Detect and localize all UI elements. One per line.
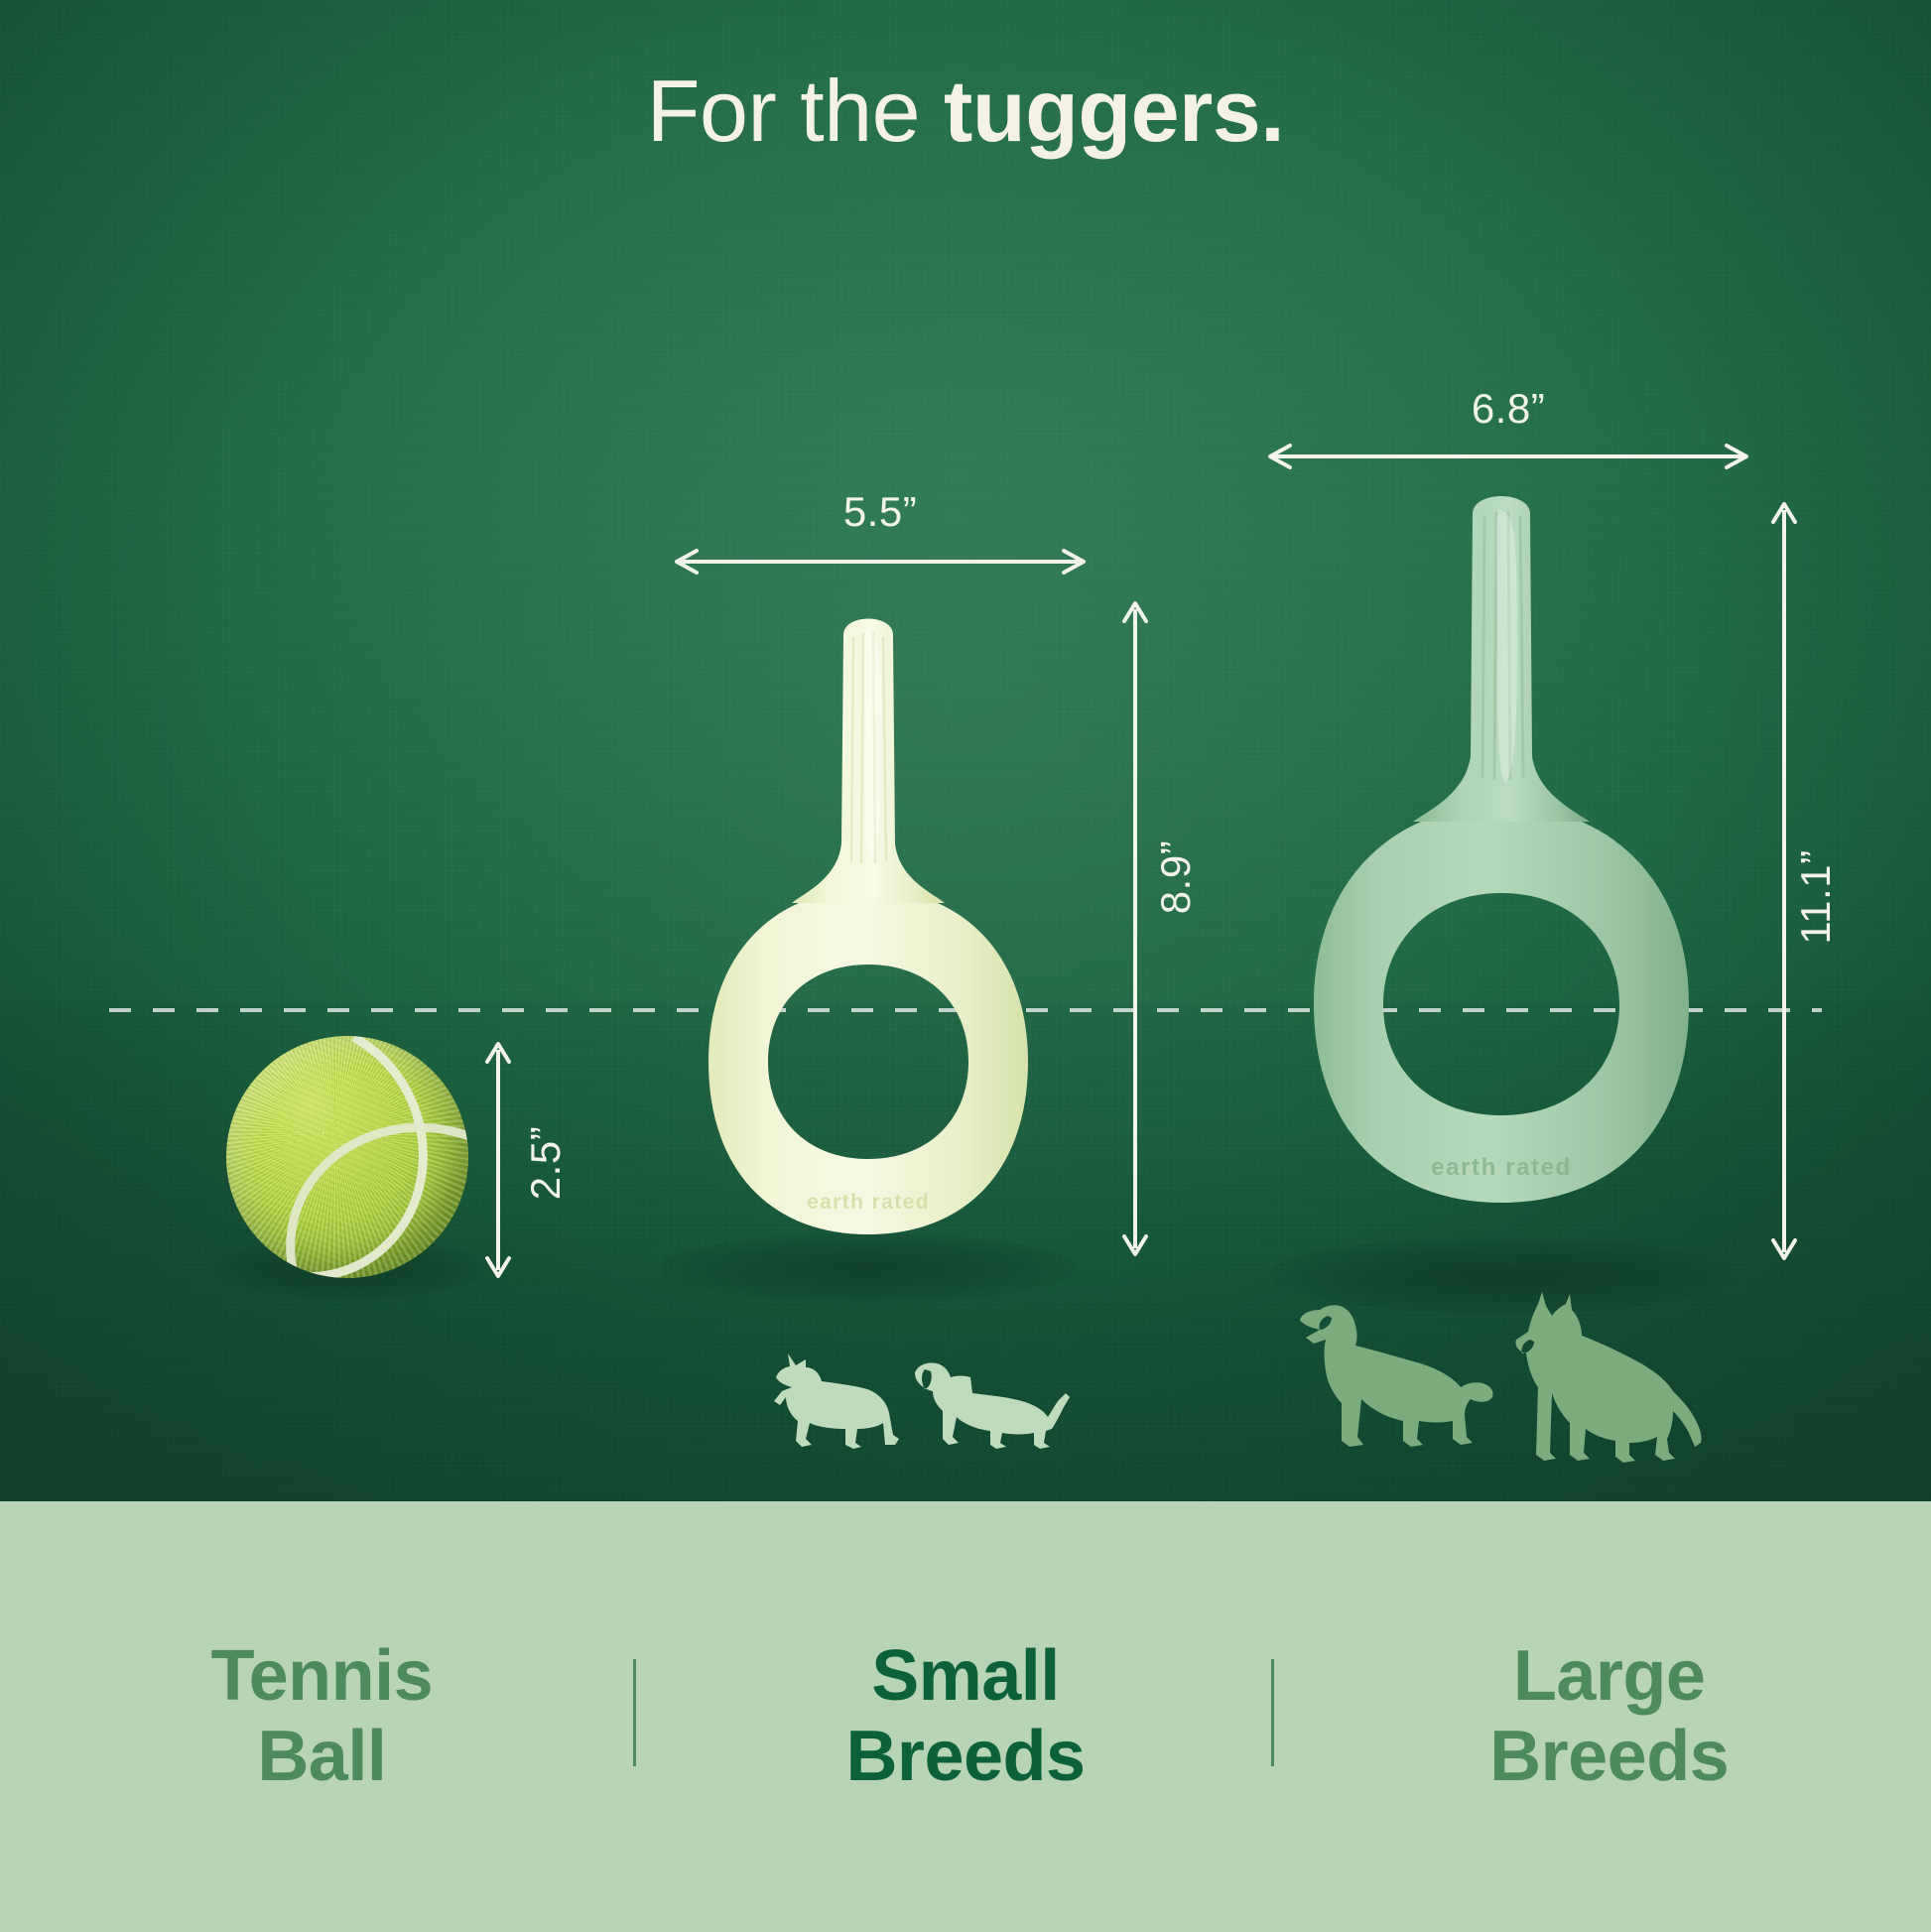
footer-column-small-breeds: Small Breeds: [644, 1636, 1288, 1796]
footer-tennis-ball-line2: Ball: [0, 1717, 644, 1797]
large-toy-brand-emboss: earth rated: [1431, 1154, 1572, 1181]
footer-column-tennis-ball: Tennis Ball: [0, 1636, 644, 1796]
large-height-label: 11.1”: [1792, 828, 1840, 966]
small-width-dimension-arrow: [667, 544, 1094, 580]
tennis-ball: [226, 1036, 468, 1278]
large-width-label: 6.8”: [1260, 385, 1756, 433]
footer-small-breeds-line2: Breeds: [644, 1717, 1288, 1797]
large-toy-handle-highlight: [1496, 510, 1517, 784]
labrador-icon: [1300, 1305, 1493, 1447]
footer-small-breeds-line1: Small: [644, 1636, 1288, 1717]
german-shepherd-icon: [1515, 1292, 1701, 1463]
ball-height-label: 2.5”: [522, 1103, 570, 1223]
small-toy-handle-highlight: [863, 631, 881, 861]
footer-divider-left: [633, 1659, 636, 1766]
footer-large-breeds-line1: Large: [1287, 1636, 1931, 1717]
small-toy-brand-emboss: earth rated: [807, 1191, 930, 1214]
ball-height-dimension-arrow: [478, 1036, 518, 1284]
footer-column-large-breeds: Large Breeds: [1287, 1636, 1931, 1796]
large-width-dimension-arrow: [1260, 439, 1756, 474]
headline-emphasis: tuggers.: [944, 62, 1284, 160]
product-size-comparison-infographic: For the tuggers. 2.5”: [0, 0, 1931, 1932]
page-title: For the tuggers.: [0, 65, 1931, 157]
small-breed-dog-silhouettes: [762, 1350, 1080, 1488]
footer-label-row: Tennis Ball Small Breeds Large Breeds: [0, 1501, 1931, 1932]
boston-terrier-icon: [774, 1353, 899, 1449]
footer-panel: Tennis Ball Small Breeds Large Breeds: [0, 1501, 1931, 1932]
footer-divider-right: [1271, 1659, 1274, 1766]
small-height-dimension-arrow: [1115, 595, 1155, 1262]
small-height-label: 8.9”: [1152, 813, 1200, 942]
headline-prefix: For the: [647, 62, 944, 160]
large-toy-ring: [1314, 806, 1689, 1203]
small-width-label: 5.5”: [667, 488, 1094, 536]
footer-tennis-ball-line1: Tennis: [0, 1636, 644, 1717]
dachshund-icon: [915, 1362, 1070, 1449]
footer-large-breeds-line2: Breeds: [1287, 1717, 1931, 1797]
large-tug-toy: earth rated: [1278, 496, 1725, 1290]
tennis-ball-body: [226, 1036, 468, 1278]
small-tug-toy: earth rated: [685, 595, 1052, 1290]
small-toy-ring: [708, 889, 1028, 1234]
large-breed-dog-silhouettes: [1296, 1282, 1713, 1500]
